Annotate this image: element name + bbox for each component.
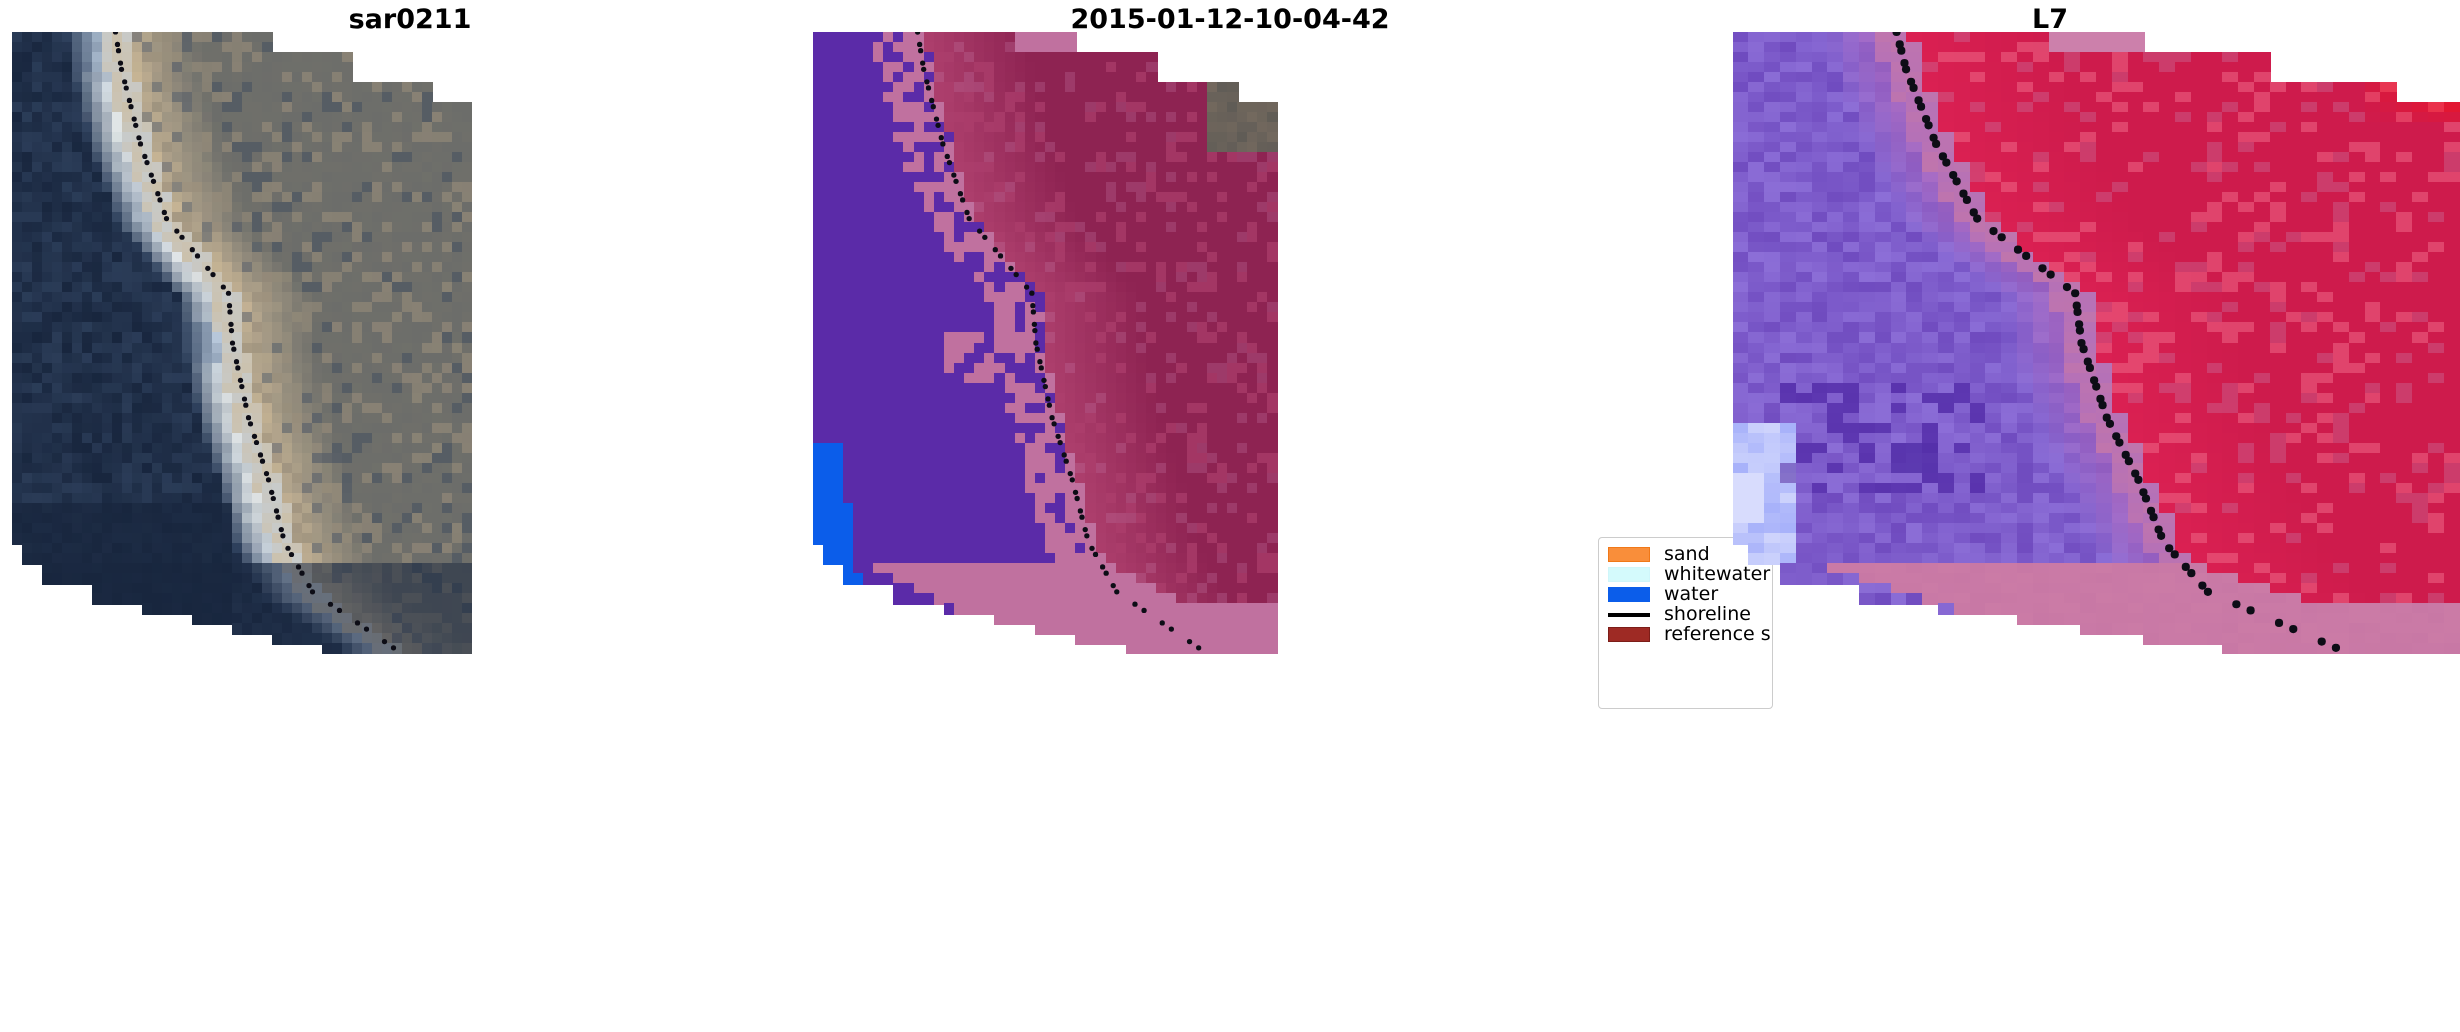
legend-label-water: water	[1664, 585, 1718, 604]
panel-1-image-axes	[12, 32, 472, 654]
legend-swatch-reference-shoreline	[1608, 627, 1650, 642]
panel-1-raster	[12, 32, 472, 654]
panel-3-image-axes	[1733, 32, 2460, 654]
panel-sar0211: sar0211	[0, 0, 820, 1032]
legend-swatch-sand	[1608, 547, 1650, 562]
panel-classification: 2015-01-12-10-04-42	[820, 0, 1640, 1032]
legend-swatch-shoreline	[1608, 613, 1650, 617]
figure-root: sar0211 2015-01-12-10-04-42 sand whitewa…	[0, 0, 2460, 1032]
panel-2-image-axes	[813, 32, 1278, 654]
panel-1-title: sar0211	[0, 4, 820, 35]
panel-2-title: 2015-01-12-10-04-42	[820, 4, 1640, 35]
panel-3-title: L7	[1640, 4, 2460, 35]
legend-swatch-whitewater	[1608, 567, 1650, 582]
panel-l7: L7	[1640, 0, 2460, 1032]
legend-swatch-water	[1608, 587, 1650, 602]
panel-3-raster	[1733, 32, 2460, 654]
legend-label-sand: sand	[1664, 545, 1710, 564]
panel-2-raster	[813, 32, 1278, 654]
